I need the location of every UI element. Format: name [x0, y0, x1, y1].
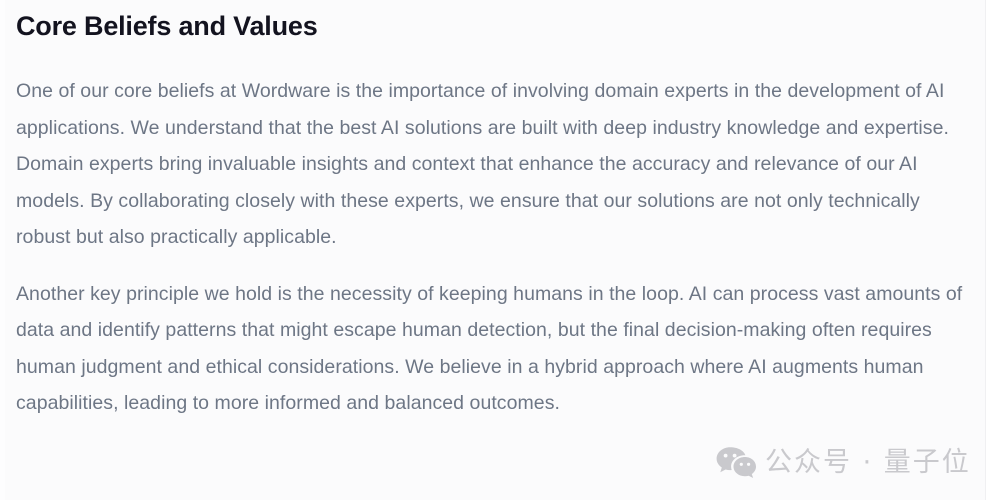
wechat-watermark: 公众号 · 量子位 [716, 446, 971, 480]
body-paragraph-1: One of our core beliefs at Wordware is t… [16, 73, 978, 256]
page-title: Core Beliefs and Values [16, 0, 978, 43]
watermark-label: 公众号 · 量子位 [765, 446, 971, 480]
document-page: Core Beliefs and Values One of our core … [0, 0, 1000, 500]
wechat-logo-icon [716, 446, 756, 480]
page-right-edge [985, 0, 1000, 500]
body-paragraph-2: Another key principle we hold is the nec… [16, 276, 978, 422]
document-content: Core Beliefs and Values One of our core … [16, 0, 978, 422]
page-left-edge [0, 0, 5, 500]
